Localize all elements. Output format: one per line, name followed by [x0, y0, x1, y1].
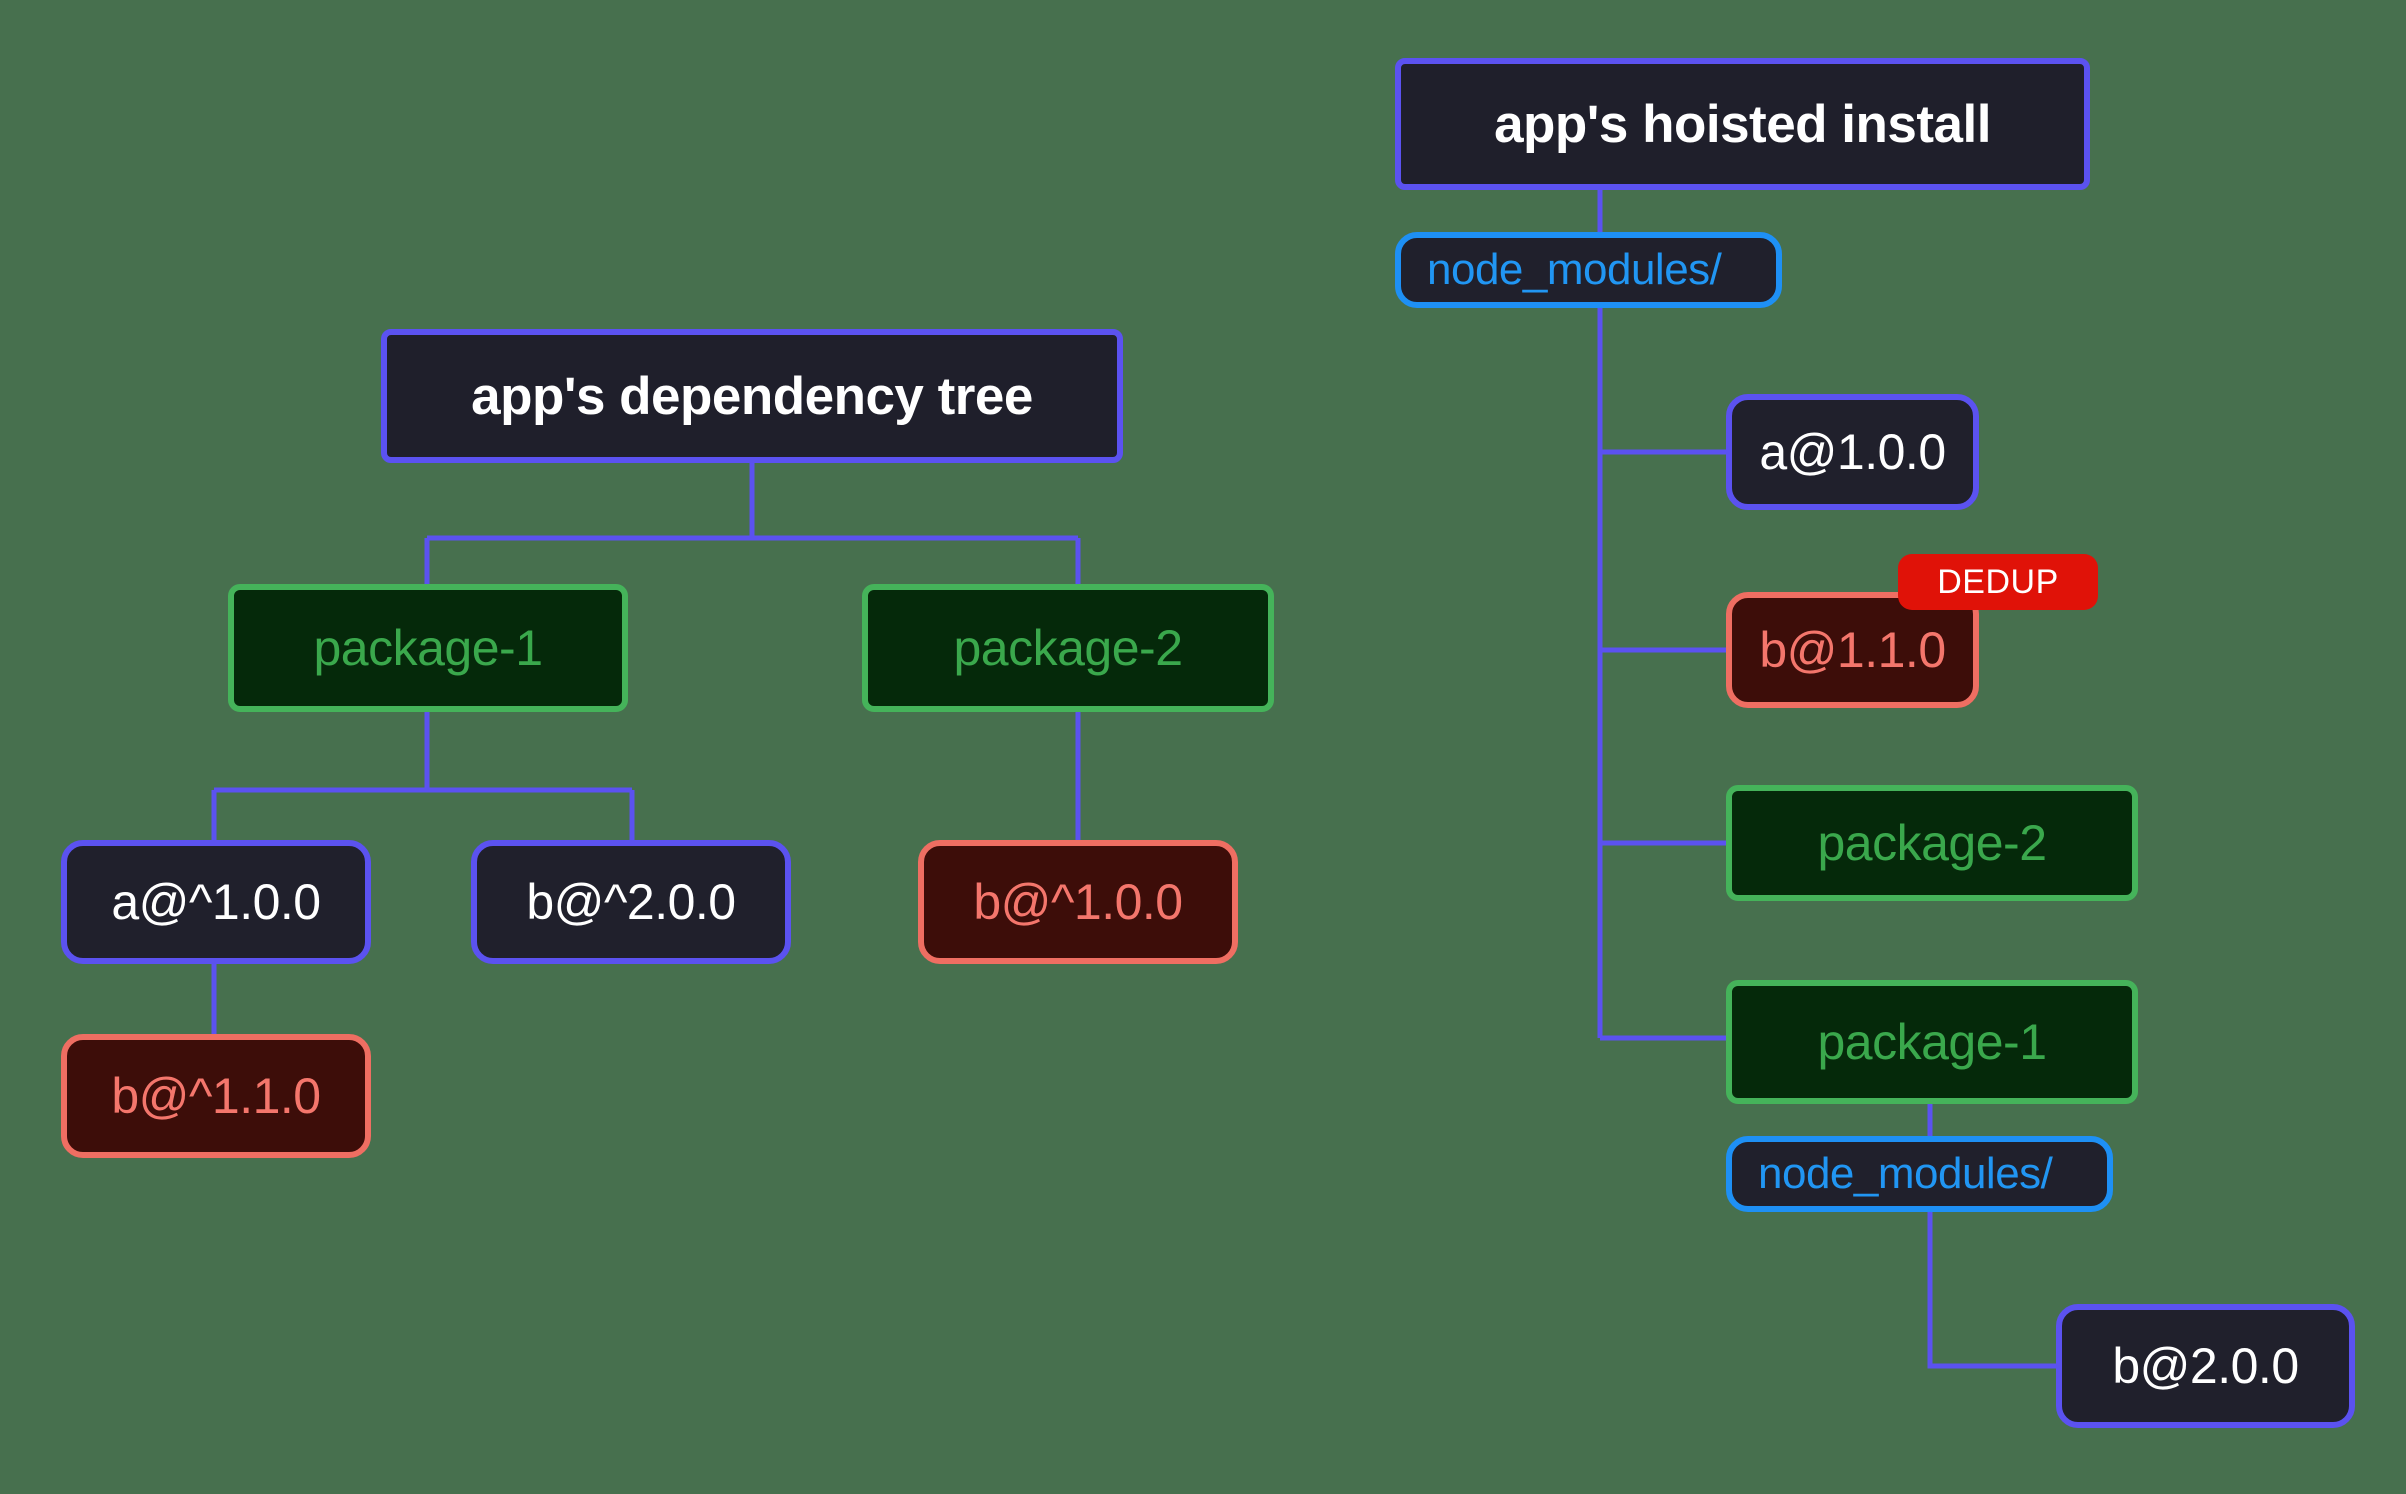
- right-tree-root-box[interactable]: app's hoisted install: [1395, 58, 2090, 190]
- right-node-b-2-0-0-label: b@2.0.0: [2062, 1337, 2349, 1395]
- left-node-a-caret-1-0-0[interactable]: a@^1.0.0: [61, 840, 371, 964]
- right-node-node-modules-nested-label: node_modules/: [1758, 1149, 2107, 1199]
- right-node-package-1[interactable]: package-1: [1726, 980, 2138, 1104]
- left-tree-root-box[interactable]: app's dependency tree: [381, 329, 1123, 463]
- left-node-b-caret-1-1-0-label: b@^1.1.0: [67, 1067, 365, 1125]
- left-node-b-caret-1-0-0-label: b@^1.0.0: [924, 873, 1232, 931]
- right-node-b-2-0-0[interactable]: b@2.0.0: [2056, 1304, 2355, 1428]
- dedup-badge: DEDUP: [1898, 554, 2098, 610]
- right-node-package-2-label: package-2: [1732, 814, 2132, 872]
- left-node-package-2-label: package-2: [868, 619, 1268, 677]
- right-tree-root-label: app's hoisted install: [1401, 94, 2084, 155]
- dedup-badge-label: DEDUP: [1937, 563, 2059, 602]
- left-node-a-caret-1-0-0-label: a@^1.0.0: [67, 873, 365, 931]
- right-node-b-1-1-0-label: b@1.1.0: [1732, 621, 1973, 679]
- right-node-package-1-label: package-1: [1732, 1013, 2132, 1071]
- left-tree-root-label: app's dependency tree: [387, 366, 1117, 427]
- left-node-package-1[interactable]: package-1: [228, 584, 628, 712]
- right-node-node-modules-top[interactable]: node_modules/: [1395, 232, 1782, 308]
- right-node-node-modules-nested[interactable]: node_modules/: [1726, 1136, 2113, 1212]
- right-node-package-2[interactable]: package-2: [1726, 785, 2138, 901]
- right-node-a-1-0-0-label: a@1.0.0: [1732, 423, 1973, 481]
- left-node-package-1-label: package-1: [234, 619, 622, 677]
- edge-nested-nm-to-b200: [1930, 1212, 2056, 1366]
- left-node-b-caret-1-1-0[interactable]: b@^1.1.0: [61, 1034, 371, 1158]
- left-node-b-caret-2-0-0[interactable]: b@^2.0.0: [471, 840, 791, 964]
- left-node-b-caret-2-0-0-label: b@^2.0.0: [477, 873, 785, 931]
- right-node-node-modules-top-label: node_modules/: [1427, 245, 1776, 295]
- left-node-package-2[interactable]: package-2: [862, 584, 1274, 712]
- diagram-canvas: app's dependency tree package-1 package-…: [0, 0, 2406, 1494]
- right-node-a-1-0-0[interactable]: a@1.0.0: [1726, 394, 1979, 510]
- connector-edges: [0, 0, 2406, 1494]
- left-node-b-caret-1-0-0[interactable]: b@^1.0.0: [918, 840, 1238, 964]
